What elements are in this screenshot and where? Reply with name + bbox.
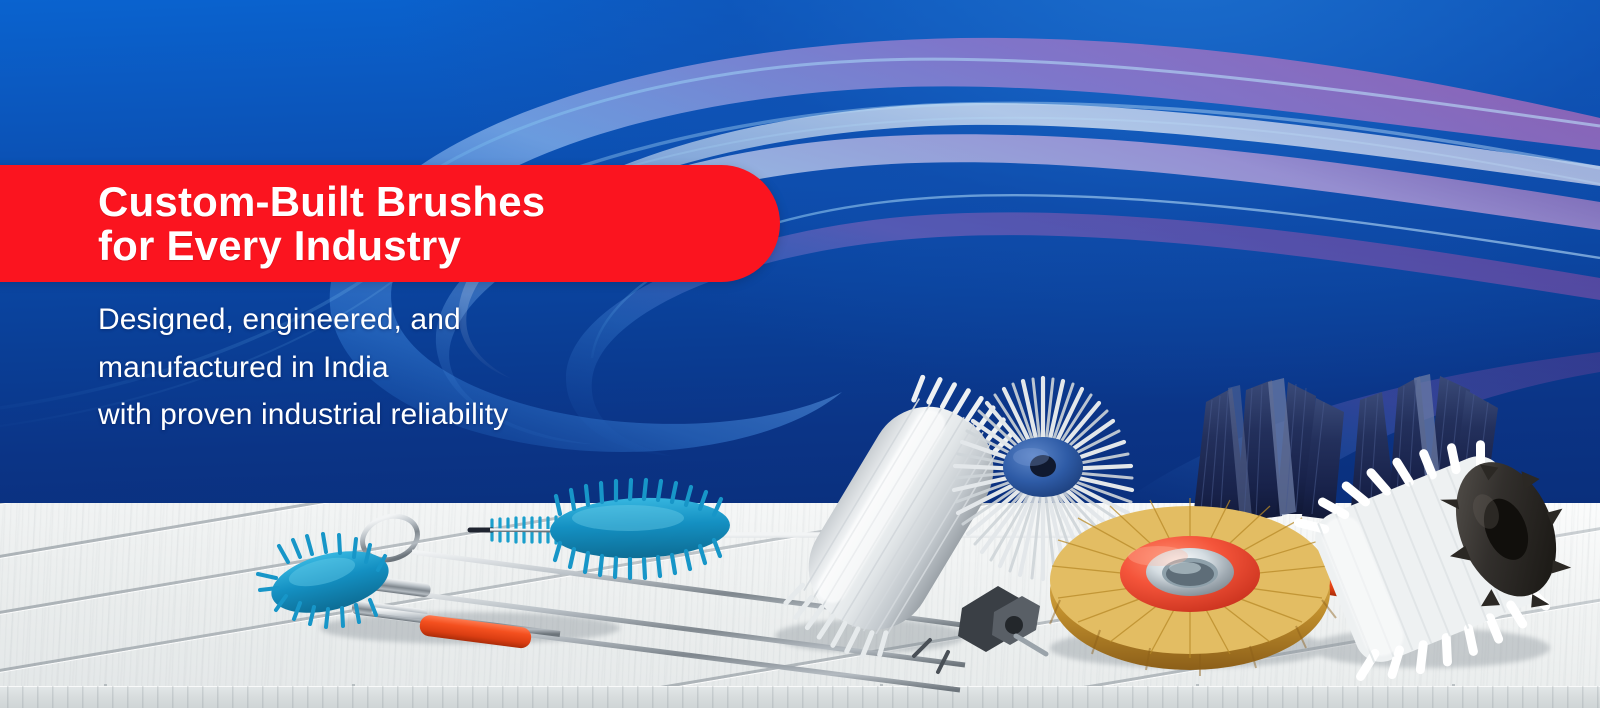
hero-banner: Custom-Built Brushes for Every Industry … [0,0,1600,708]
cyan-bristle-body [549,480,731,578]
product-photo-group [0,0,1600,708]
cyan-bristle-head [258,534,395,627]
